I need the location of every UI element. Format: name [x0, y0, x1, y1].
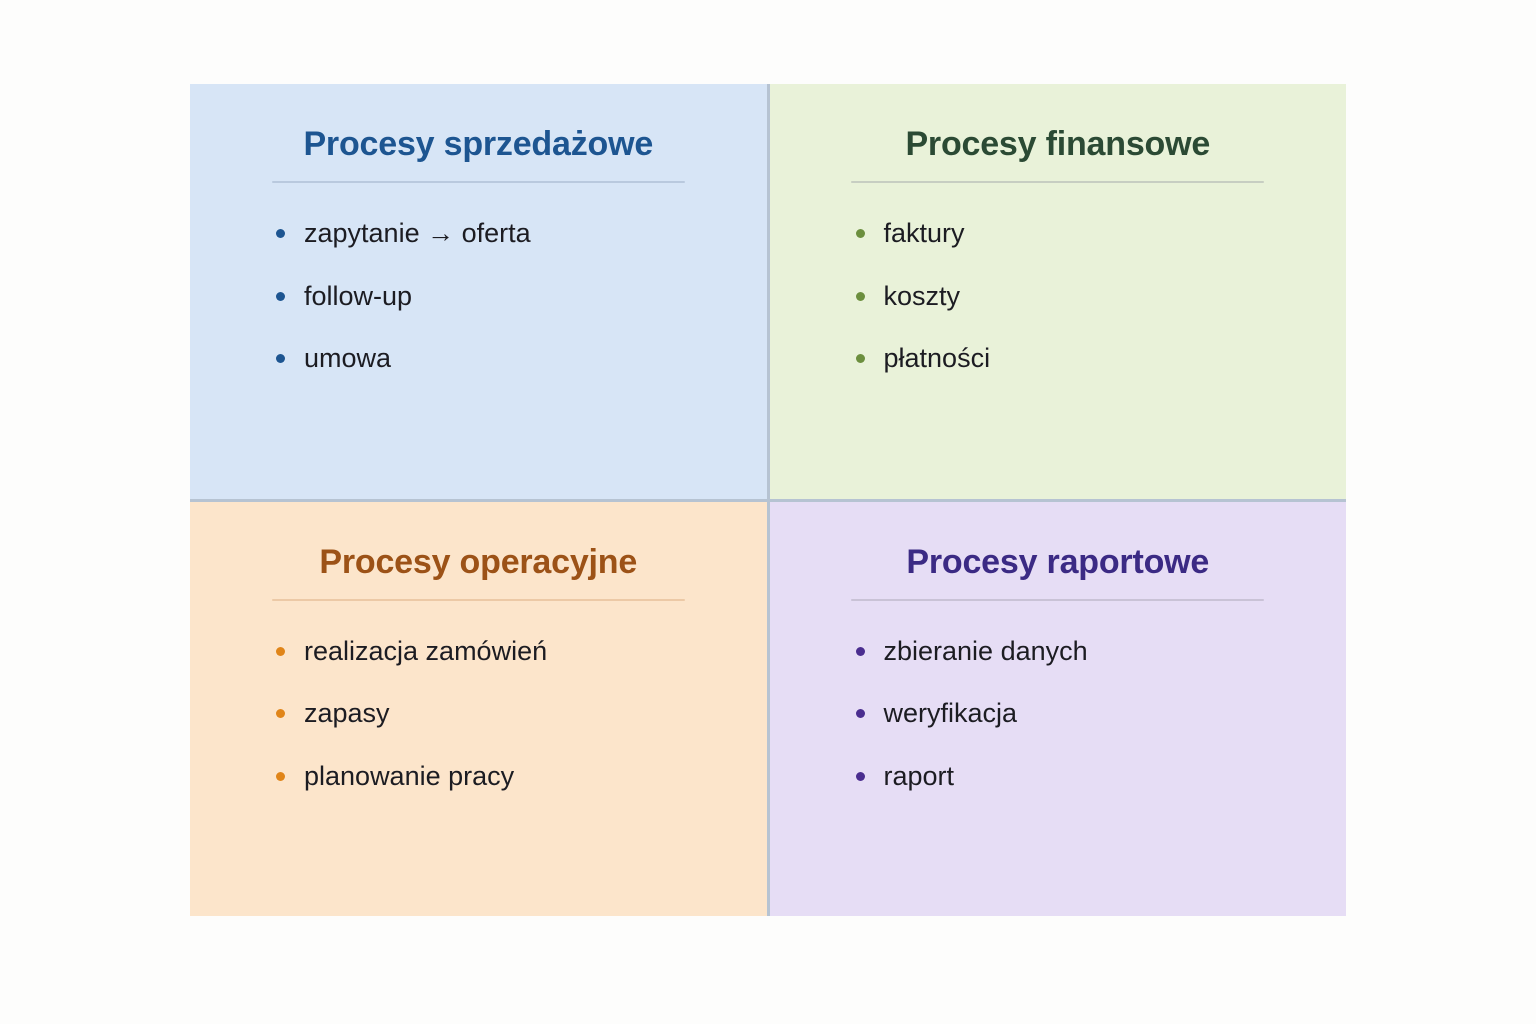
list-item[interactable]: weryfikacja	[884, 697, 1299, 729]
list-item-label: zapasy	[304, 698, 390, 728]
bullet-dot-icon	[856, 229, 865, 238]
list-item[interactable]: koszty	[884, 280, 1299, 312]
list-item-label: faktury	[884, 218, 965, 248]
bullet-dot-icon	[856, 772, 865, 781]
list-item-label: realizacja zamówień	[304, 636, 547, 666]
bullet-dot-icon	[856, 709, 865, 718]
quadrant-sales[interactable]: Procesy sprzedażowe zapytanie → oferta f…	[190, 84, 767, 499]
quadrant-title-operations: Procesy operacyjne	[238, 544, 719, 581]
bullet-list-sales: zapytanie → oferta follow-up umowa	[238, 217, 719, 374]
list-item-label: zapytanie → oferta	[304, 218, 531, 248]
bullet-list-finance: faktury koszty płatności	[818, 217, 1299, 374]
bullet-dot-icon	[276, 772, 285, 781]
list-item[interactable]: follow-up	[304, 280, 719, 312]
title-rule-reporting	[851, 599, 1264, 601]
list-item[interactable]: raport	[884, 760, 1299, 792]
list-item-label: weryfikacja	[884, 698, 1018, 728]
list-item[interactable]: planowanie pracy	[304, 760, 719, 792]
bullet-dot-icon	[856, 354, 865, 363]
title-rule-finance	[851, 181, 1264, 183]
bullet-list-reporting: zbieranie danych weryfikacja raport	[818, 635, 1299, 792]
list-item[interactable]: umowa	[304, 342, 719, 374]
list-item[interactable]: zapasy	[304, 697, 719, 729]
quadrant-title-reporting: Procesy raportowe	[818, 544, 1299, 581]
list-item[interactable]: zapytanie → oferta	[304, 217, 719, 249]
bullet-dot-icon	[856, 647, 865, 656]
list-item-label: płatności	[884, 343, 991, 373]
list-item-label: raport	[884, 761, 955, 791]
quadrant-operations[interactable]: Procesy operacyjne realizacja zamówień z…	[190, 502, 767, 917]
list-item-label: umowa	[304, 343, 391, 373]
list-item-label: koszty	[884, 281, 961, 311]
quadrant-finance[interactable]: Procesy finansowe faktury koszty płatnoś…	[770, 84, 1347, 499]
list-item-label: zbieranie danych	[884, 636, 1088, 666]
quadrant-reporting[interactable]: Procesy raportowe zbieranie danych weryf…	[770, 502, 1347, 917]
slide-canvas: Procesy sprzedażowe zapytanie → oferta f…	[0, 0, 1536, 1024]
list-item[interactable]: płatności	[884, 342, 1299, 374]
bullet-list-operations: realizacja zamówień zapasy planowanie pr…	[238, 635, 719, 792]
bullet-dot-icon	[276, 229, 285, 238]
process-matrix: Procesy sprzedażowe zapytanie → oferta f…	[190, 84, 1346, 916]
list-item[interactable]: faktury	[884, 217, 1299, 249]
bullet-dot-icon	[276, 354, 285, 363]
list-item-label: planowanie pracy	[304, 761, 514, 791]
bullet-dot-icon	[856, 292, 865, 301]
title-rule-operations	[272, 599, 685, 601]
quadrant-title-finance: Procesy finansowe	[818, 126, 1299, 163]
list-item[interactable]: zbieranie danych	[884, 635, 1299, 667]
bullet-dot-icon	[276, 292, 285, 301]
bullet-dot-icon	[276, 709, 285, 718]
list-item-label: follow-up	[304, 281, 412, 311]
quadrant-title-sales: Procesy sprzedażowe	[238, 126, 719, 163]
list-item[interactable]: realizacja zamówień	[304, 635, 719, 667]
bullet-dot-icon	[276, 647, 285, 656]
title-rule-sales	[272, 181, 685, 183]
